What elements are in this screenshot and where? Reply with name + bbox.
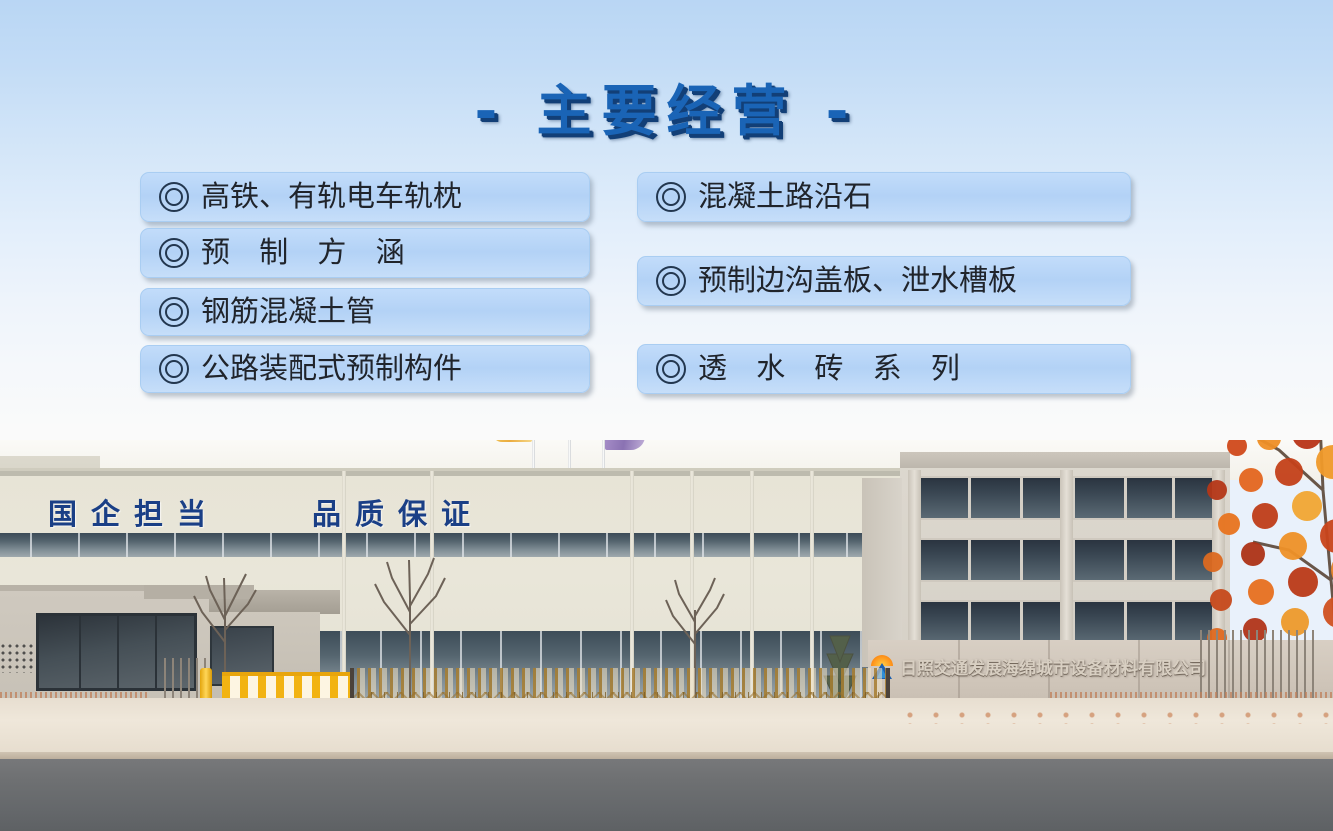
service-badge-left-1[interactable]: 高铁、有轨电车轨枕 <box>140 172 590 222</box>
service-badge-right-2[interactable]: 预制边沟盖板、泄水槽板 <box>637 256 1131 306</box>
service-badge-right-1[interactable]: 混凝土路沿石 <box>637 172 1131 222</box>
service-label: 透 水 砖 系 列 <box>698 354 970 383</box>
bullet-circle-icon <box>159 354 189 384</box>
sidewalk <box>0 698 1333 754</box>
service-label: 预制边沟盖板、泄水槽板 <box>698 266 1017 295</box>
service-label: 钢筋混凝土管 <box>201 297 375 326</box>
factory-clerestory-windows <box>0 533 940 557</box>
service-label: 高铁、有轨电车轨枕 <box>201 182 462 211</box>
service-badge-left-3[interactable]: 钢筋混凝土管 <box>140 288 590 336</box>
company-sign: 日照交通发展海绵城市设备材料有限公司 <box>869 654 1206 679</box>
factory-photo-scene: 国企担当 品质保证 <box>0 440 1333 831</box>
vent-grille <box>0 643 36 673</box>
office-building <box>900 452 1230 667</box>
service-badge-right-3[interactable]: 透 水 砖 系 列 <box>637 344 1131 394</box>
asphalt-road <box>0 759 1333 831</box>
factory-roofline <box>0 471 940 476</box>
service-label: 预 制 方 涵 <box>201 238 415 267</box>
bullet-circle-icon <box>159 238 189 268</box>
service-badge-left-2[interactable]: 预 制 方 涵 <box>140 228 590 278</box>
service-badge-left-4[interactable]: 公路装配式预制构件 <box>140 345 590 393</box>
bullet-circle-icon <box>656 182 686 212</box>
bullet-circle-icon <box>159 182 189 212</box>
service-label: 公路装配式预制构件 <box>201 354 462 383</box>
facade-sign-right: 品质保证 <box>312 491 484 533</box>
facade-sign-left: 国企担当 <box>48 491 220 533</box>
service-label: 混凝土路沿石 <box>698 182 872 211</box>
bullet-circle-icon <box>656 266 686 296</box>
bullet-circle-icon <box>656 354 686 384</box>
service-badge-group: 高铁、有轨电车轨枕 预 制 方 涵 钢筋混凝土管 公路装配式预制构件 混凝土路沿… <box>0 0 1333 470</box>
bullet-circle-icon <box>159 297 189 327</box>
promo-banner: 国企担当 品质保证 <box>0 0 1333 831</box>
company-name-text: 日照交通发展海绵城市设备材料有限公司 <box>900 654 1206 679</box>
fallen-leaves <box>900 710 1330 724</box>
